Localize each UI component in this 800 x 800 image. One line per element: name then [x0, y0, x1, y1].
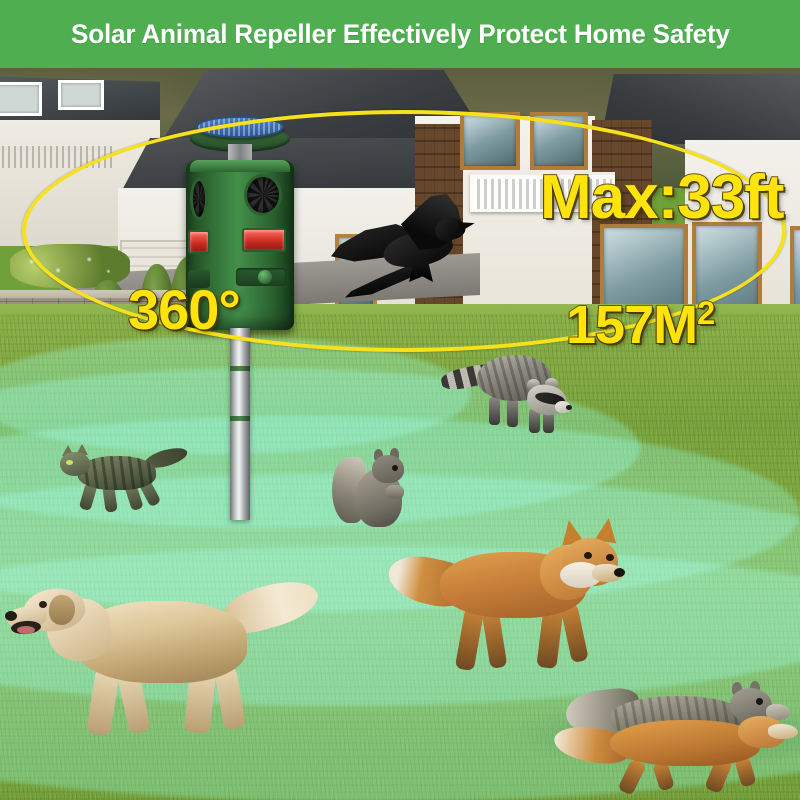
- callout-area-exponent: 2: [697, 295, 714, 331]
- animal-crow: Crow: [335, 188, 485, 318]
- neighbor-window: [58, 80, 104, 110]
- raccoon-leg: [489, 397, 500, 425]
- squirrel-paw: [386, 485, 404, 499]
- mounting-pole: [230, 328, 250, 520]
- dog-tongue: [17, 626, 35, 634]
- animal-raccoon: Raccoon: [455, 351, 573, 441]
- product-poster: Solar Animal Repeller Effectively Protec…: [0, 0, 800, 800]
- pole-band: [230, 366, 250, 371]
- cat-head: [60, 452, 90, 476]
- page-title: Solar Animal Repeller Effectively Protec…: [71, 19, 730, 50]
- crow-beak: [458, 218, 476, 232]
- animal-fox: Fox: [400, 530, 650, 690]
- callout-coverage-area: 157M2: [566, 297, 714, 352]
- pole-band: [230, 416, 250, 421]
- cat-eye: [66, 460, 73, 465]
- motion-sensor-window: [188, 230, 210, 254]
- fox-nose: [614, 568, 625, 577]
- house-window: [460, 112, 520, 170]
- fox-leg: [455, 607, 484, 671]
- speaker-grill-icon: [190, 178, 208, 220]
- dog-eye: [39, 601, 47, 608]
- animal-squirrel: Squirrel: [330, 443, 414, 535]
- solar-panel: [196, 116, 284, 138]
- callout-area-number: 157M: [566, 295, 697, 355]
- device-knob: [258, 270, 272, 284]
- animal-dog: Dog: [5, 573, 325, 748]
- squirrel-eye: [392, 465, 398, 471]
- running-fox-snout: [768, 724, 798, 739]
- fox-leg: [482, 609, 508, 669]
- callout-max-distance: Max:33ft: [540, 167, 784, 229]
- running-fox-leg: [617, 758, 646, 796]
- fox-eye: [606, 554, 614, 561]
- neighbor-window: [0, 82, 42, 116]
- raccoon-leg: [507, 399, 518, 427]
- raccoon-nose: [566, 405, 572, 410]
- fox-leg: [560, 603, 589, 663]
- animal-running-fox: Fox: [560, 680, 800, 800]
- house-window: [530, 112, 588, 170]
- motion-sensor-window: [242, 228, 286, 252]
- neighbor-railing: [0, 146, 112, 168]
- animal-cat: Cat: [48, 446, 188, 518]
- fox-eye: [584, 552, 592, 559]
- speaker-grill-icon: [244, 174, 282, 216]
- dog-nose: [5, 611, 17, 621]
- header-banner: Solar Animal Repeller Effectively Protec…: [0, 0, 800, 68]
- squirrel-head: [372, 455, 404, 483]
- callout-coverage-angle: 360°: [128, 282, 240, 338]
